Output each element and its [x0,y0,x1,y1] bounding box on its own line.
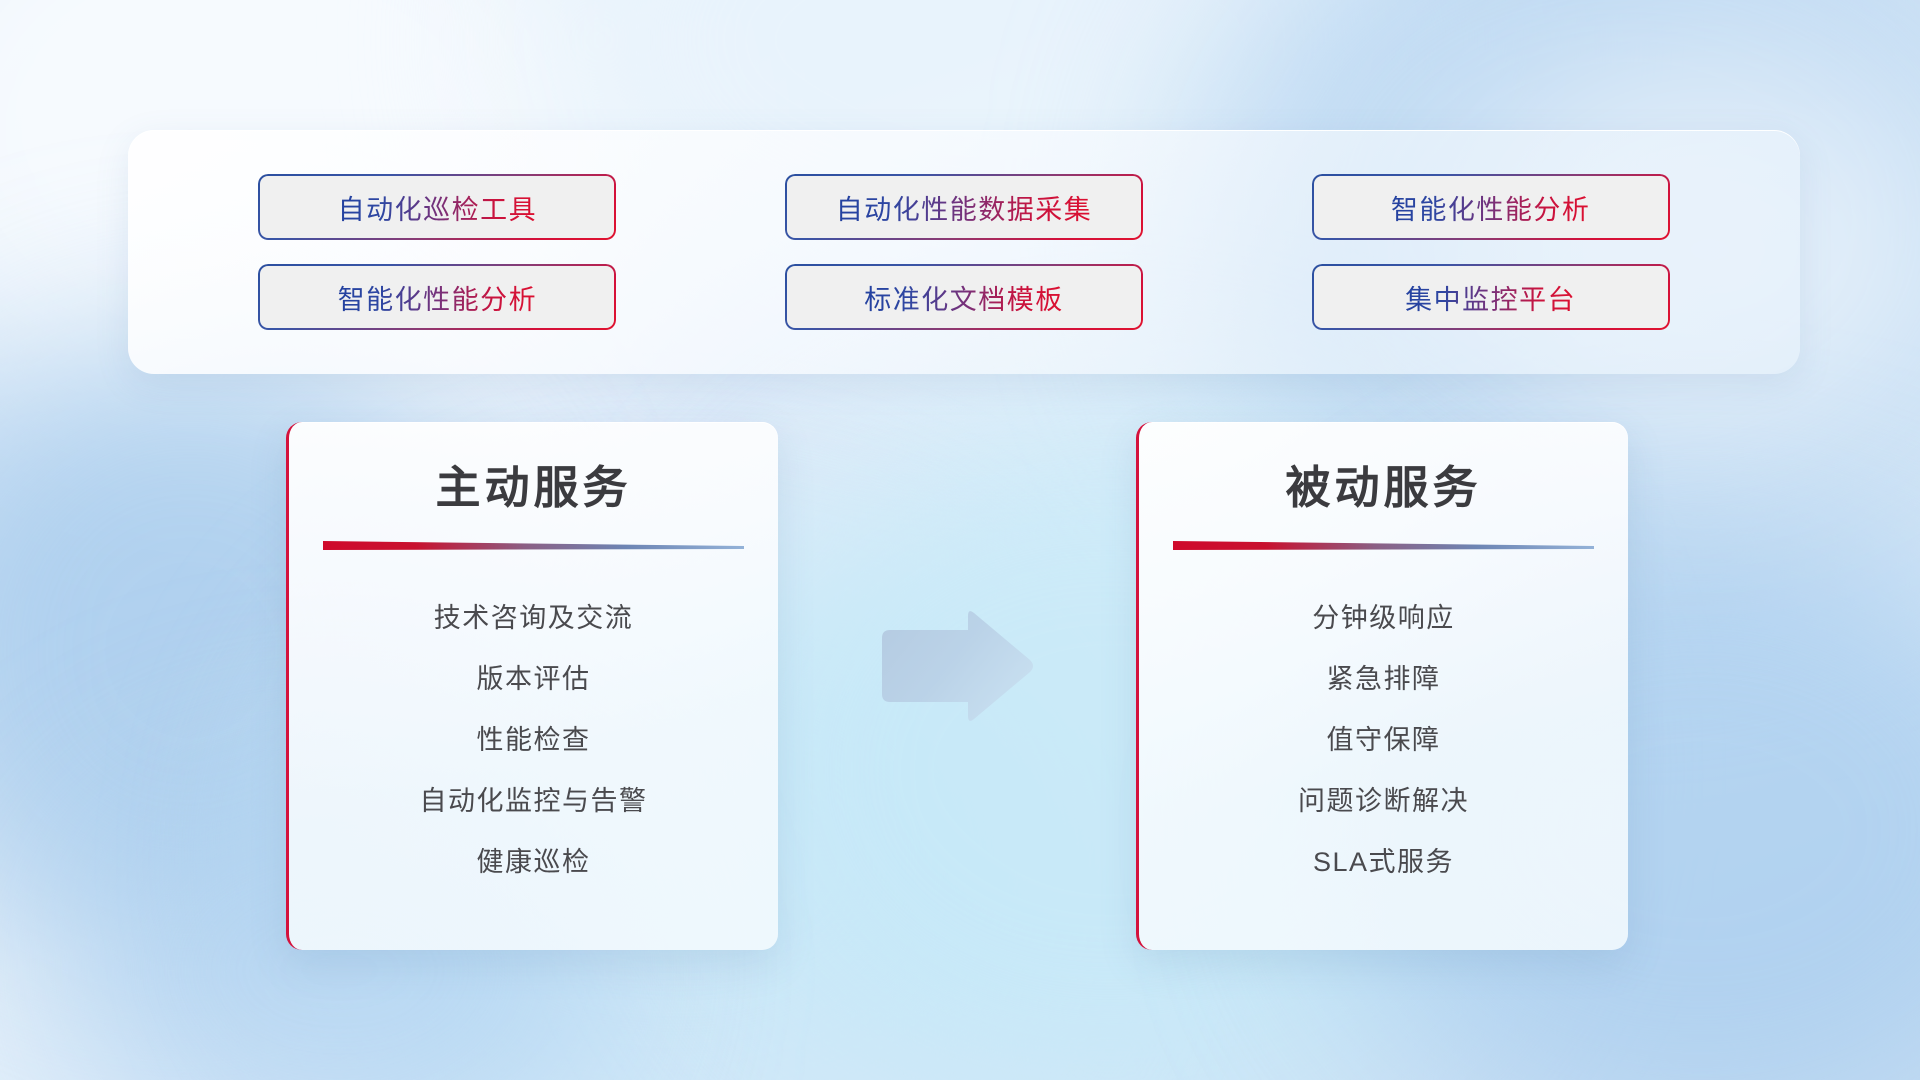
capability-chip-auto-inspection-tool[interactable]: 自动化巡检工具 [258,174,616,240]
capability-panel: 自动化巡检工具 自动化性能数据采集 智能化性能分析 智能化性能分析 标准化文档模… [128,130,1800,374]
service-card-title: 主动服务 [435,460,631,516]
service-card-title: 被动服务 [1285,460,1481,516]
capability-chip-label: 自动化巡检工具 [338,188,538,227]
capability-chip-intelligent-performance-analysis[interactable]: 智能化性能分析 [1312,174,1670,240]
arrow-right-icon [874,608,1038,724]
service-item: 问题诊断解决 [1298,771,1469,832]
capability-chip-label: 智能化性能分析 [1391,188,1591,227]
service-card-reactive: 被动服务 分钟级响应 紧急排障 值守保障 问题诊断解决 [1136,422,1628,950]
capability-chip-intelligent-performance-analysis-2[interactable]: 智能化性能分析 [258,264,616,330]
service-item: 技术咨询及交流 [434,588,634,649]
capability-row-1: 自动化巡检工具 自动化性能数据采集 智能化性能分析 [128,174,1800,240]
service-item: 性能检查 [477,710,591,771]
service-item: 值守保障 [1327,710,1441,771]
capability-chip-label: 智能化性能分析 [338,278,538,317]
service-item: 分钟级响应 [1312,588,1455,649]
capability-chip-label: 自动化性能数据采集 [836,188,1093,227]
service-item: 健康巡检 [477,832,591,893]
service-card-proactive: 主动服务 技术咨询及交流 版本评估 性能检查 自动化监控与告警 [286,422,778,950]
capability-chip-label: 集中监控平台 [1405,278,1576,317]
diagram-canvas: 自动化巡检工具 自动化性能数据采集 智能化性能分析 智能化性能分析 标准化文档模… [0,0,1920,1080]
service-item: 紧急排障 [1327,649,1441,710]
service-item: SLA式服务 [1313,832,1454,893]
capability-row-2: 智能化性能分析 标准化文档模板 集中监控平台 [128,264,1800,330]
service-item: 自动化监控与告警 [420,771,648,832]
capability-chip-standard-doc-template[interactable]: 标准化文档模板 [785,264,1143,330]
capability-chip-central-monitoring-platform[interactable]: 集中监控平台 [1312,264,1670,330]
service-item: 版本评估 [477,649,591,710]
service-item-list: 技术咨询及交流 版本评估 性能检查 自动化监控与告警 健康巡检 [323,588,744,893]
service-item-list: 分钟级响应 紧急排障 值守保障 问题诊断解决 SLA式服务 [1173,588,1594,893]
capability-chip-auto-performance-collection[interactable]: 自动化性能数据采集 [785,174,1143,240]
title-divider [323,538,744,556]
capability-chip-label: 标准化文档模板 [864,278,1064,317]
title-divider [1173,538,1594,556]
